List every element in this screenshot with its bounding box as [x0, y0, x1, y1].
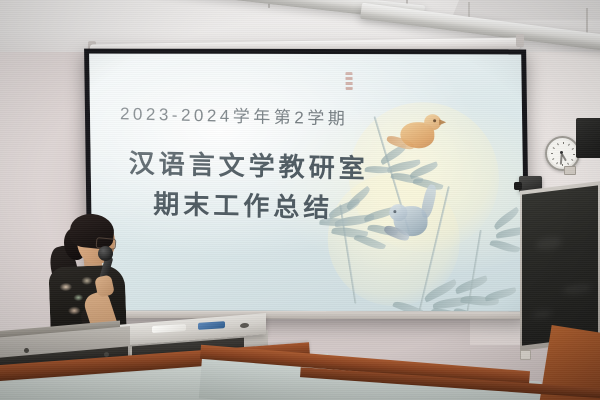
screen-bottom-bar — [90, 311, 528, 320]
screen-roller-cap-right — [516, 34, 524, 47]
slide-title-line-1: 汉语言文学教研室 — [129, 143, 369, 185]
slide-subtitle: 2023-2024学年第2学期 — [120, 99, 348, 129]
clock-tick — [571, 148, 573, 150]
clock-tick — [573, 154, 575, 155]
clock-tick — [552, 158, 554, 160]
wall-outlet-lower — [520, 350, 531, 360]
clock-tick — [551, 153, 553, 154]
chalk-smudge — [562, 282, 592, 296]
chalk-smudge — [532, 309, 552, 319]
wall-mounted-panel — [576, 118, 600, 158]
clock-tick — [552, 147, 554, 149]
clock-face — [549, 140, 576, 167]
clock-tick — [571, 159, 573, 161]
wall-outlet-upper — [564, 166, 576, 175]
chalk-smudge — [536, 236, 562, 251]
clock-tick — [557, 143, 559, 145]
console-knob — [24, 348, 29, 353]
classroom-photo-scene: 2023-2024学年第2学期 汉语言文学教研室 期末工作总结 — [0, 0, 600, 400]
slide-text-block: 2023-2024学年第2学期 汉语言文学教研室 期末工作总结 — [89, 54, 525, 312]
clock-tick — [556, 162, 558, 164]
slide-title-line-2: 期末工作总结 — [153, 184, 333, 225]
projection-screen-surface: 2023-2024学年第2学期 汉语言文学教研室 期末工作总结 — [89, 54, 525, 312]
clock-tick — [567, 163, 569, 165]
microphone-icon — [98, 246, 113, 261]
clock-center-pin — [560, 151, 563, 154]
clock-tick — [563, 142, 564, 144]
blackboard-surface — [522, 185, 598, 345]
clock-tick — [568, 144, 570, 146]
projector-lens-icon — [514, 182, 522, 190]
